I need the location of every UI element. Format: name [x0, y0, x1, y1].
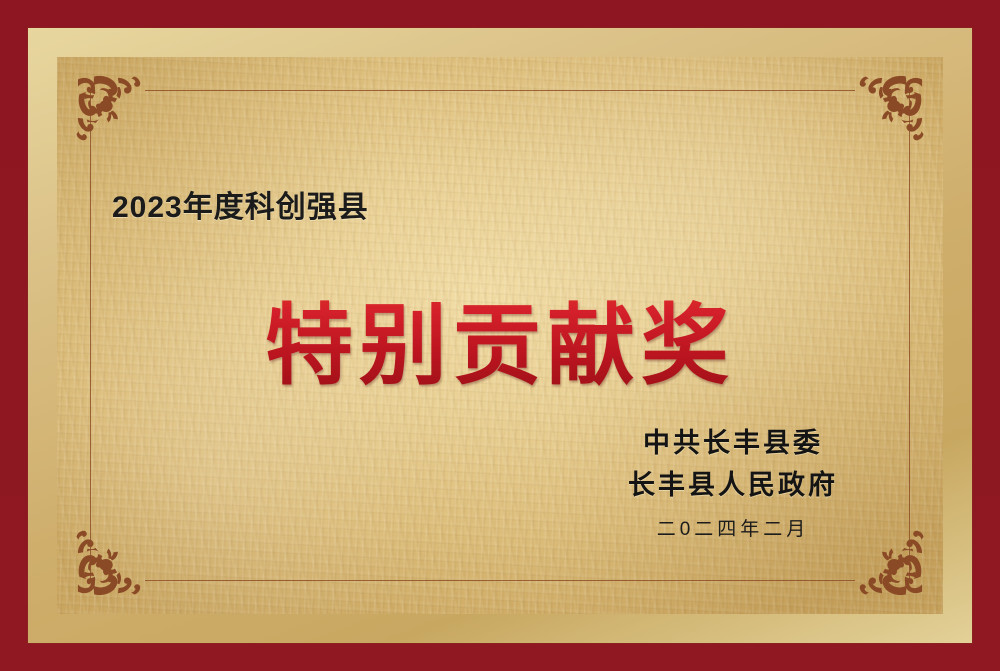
corner-flourish-icon-top-left [72, 72, 146, 146]
award-plaque: 2023年度科创强县 特别贡献奖 中共长丰县委 长丰县人民政府 二0二四年二月 [0, 0, 1000, 671]
rule-bottom [145, 580, 855, 581]
certificate-heading: 2023年度科创强县 [112, 182, 369, 226]
corner-flourish-icon-bottom-right [854, 525, 928, 599]
issuer-block: 中共长丰县委 长丰县人民政府 二0二四年二月 [628, 422, 838, 541]
certificate-field: 2023年度科创强县 特别贡献奖 中共长丰县委 长丰县人民政府 二0二四年二月 [57, 57, 943, 614]
award-title: 特别贡献奖 [57, 275, 943, 402]
issue-date: 二0二四年二月 [628, 514, 838, 541]
issuer-line-2: 长丰县人民政府 [628, 464, 838, 506]
corner-flourish-icon-bottom-left [72, 525, 146, 599]
corner-flourish-icon-top-right [854, 72, 928, 146]
issuer-line-1: 中共长丰县委 [628, 422, 838, 464]
rule-top [145, 90, 855, 91]
